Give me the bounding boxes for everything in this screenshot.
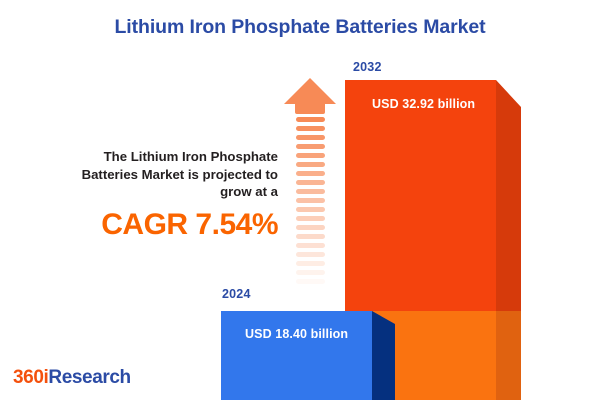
arrow-stripe xyxy=(296,171,325,176)
page-title: Lithium Iron Phosphate Batteries Market xyxy=(0,16,600,39)
arrow-stripe xyxy=(296,162,325,167)
arrow-stripe xyxy=(296,198,325,203)
arrow-stripe xyxy=(296,126,325,131)
logo-text-research: Research xyxy=(48,367,130,388)
arrow-stripe xyxy=(296,288,325,293)
arrow-stripe xyxy=(296,144,325,149)
logo-text-360i: 360i xyxy=(13,367,48,388)
arrow-stripe xyxy=(296,207,325,212)
cagr-value: CAGR 7.54% xyxy=(20,208,278,242)
bar-2024-front-face xyxy=(221,311,372,400)
arrow-stripe xyxy=(296,261,325,266)
arrow-stripe xyxy=(296,180,325,185)
bar-year-label-2024: 2024 xyxy=(222,287,251,301)
arrow-stripe xyxy=(296,135,325,140)
arrow-stripe xyxy=(296,225,325,230)
cagr-lead-line-2: Batteries Market is projected to xyxy=(20,166,278,184)
cagr-lead-text: The Lithium Iron Phosphate Batteries Mar… xyxy=(20,148,278,201)
cagr-text-block: The Lithium Iron Phosphate Batteries Mar… xyxy=(20,148,278,242)
arrow-stripe xyxy=(296,234,325,239)
cagr-lead-line-3: grow at a xyxy=(20,183,278,201)
arrow-stripe xyxy=(296,189,325,194)
arrow-stripe xyxy=(296,279,325,284)
infographic-canvas: Lithium Iron Phosphate Batteries Market … xyxy=(0,0,600,400)
growth-arrow-icon xyxy=(284,78,336,293)
arrow-stripe xyxy=(296,252,325,257)
brand-logo[interactable]: 360iResearch xyxy=(13,367,131,389)
bar-2032-front-face-upper xyxy=(345,80,496,311)
arrow-stripe xyxy=(296,270,325,275)
arrow-stripe xyxy=(296,243,325,248)
bar-value-label-2032: USD 32.92 billion xyxy=(372,97,475,111)
arrow-stripe xyxy=(296,216,325,221)
arrow-stripe xyxy=(296,153,325,158)
arrow-shaft-stripes xyxy=(296,117,325,293)
bar-year-label-2032: 2032 xyxy=(353,60,382,74)
bar-value-label-2024: USD 18.40 billion xyxy=(245,327,348,341)
arrow-neck xyxy=(295,105,325,114)
arrow-stripe xyxy=(296,117,325,122)
bar-2024 xyxy=(221,311,395,400)
cagr-lead-line-1: The Lithium Iron Phosphate xyxy=(20,148,278,166)
